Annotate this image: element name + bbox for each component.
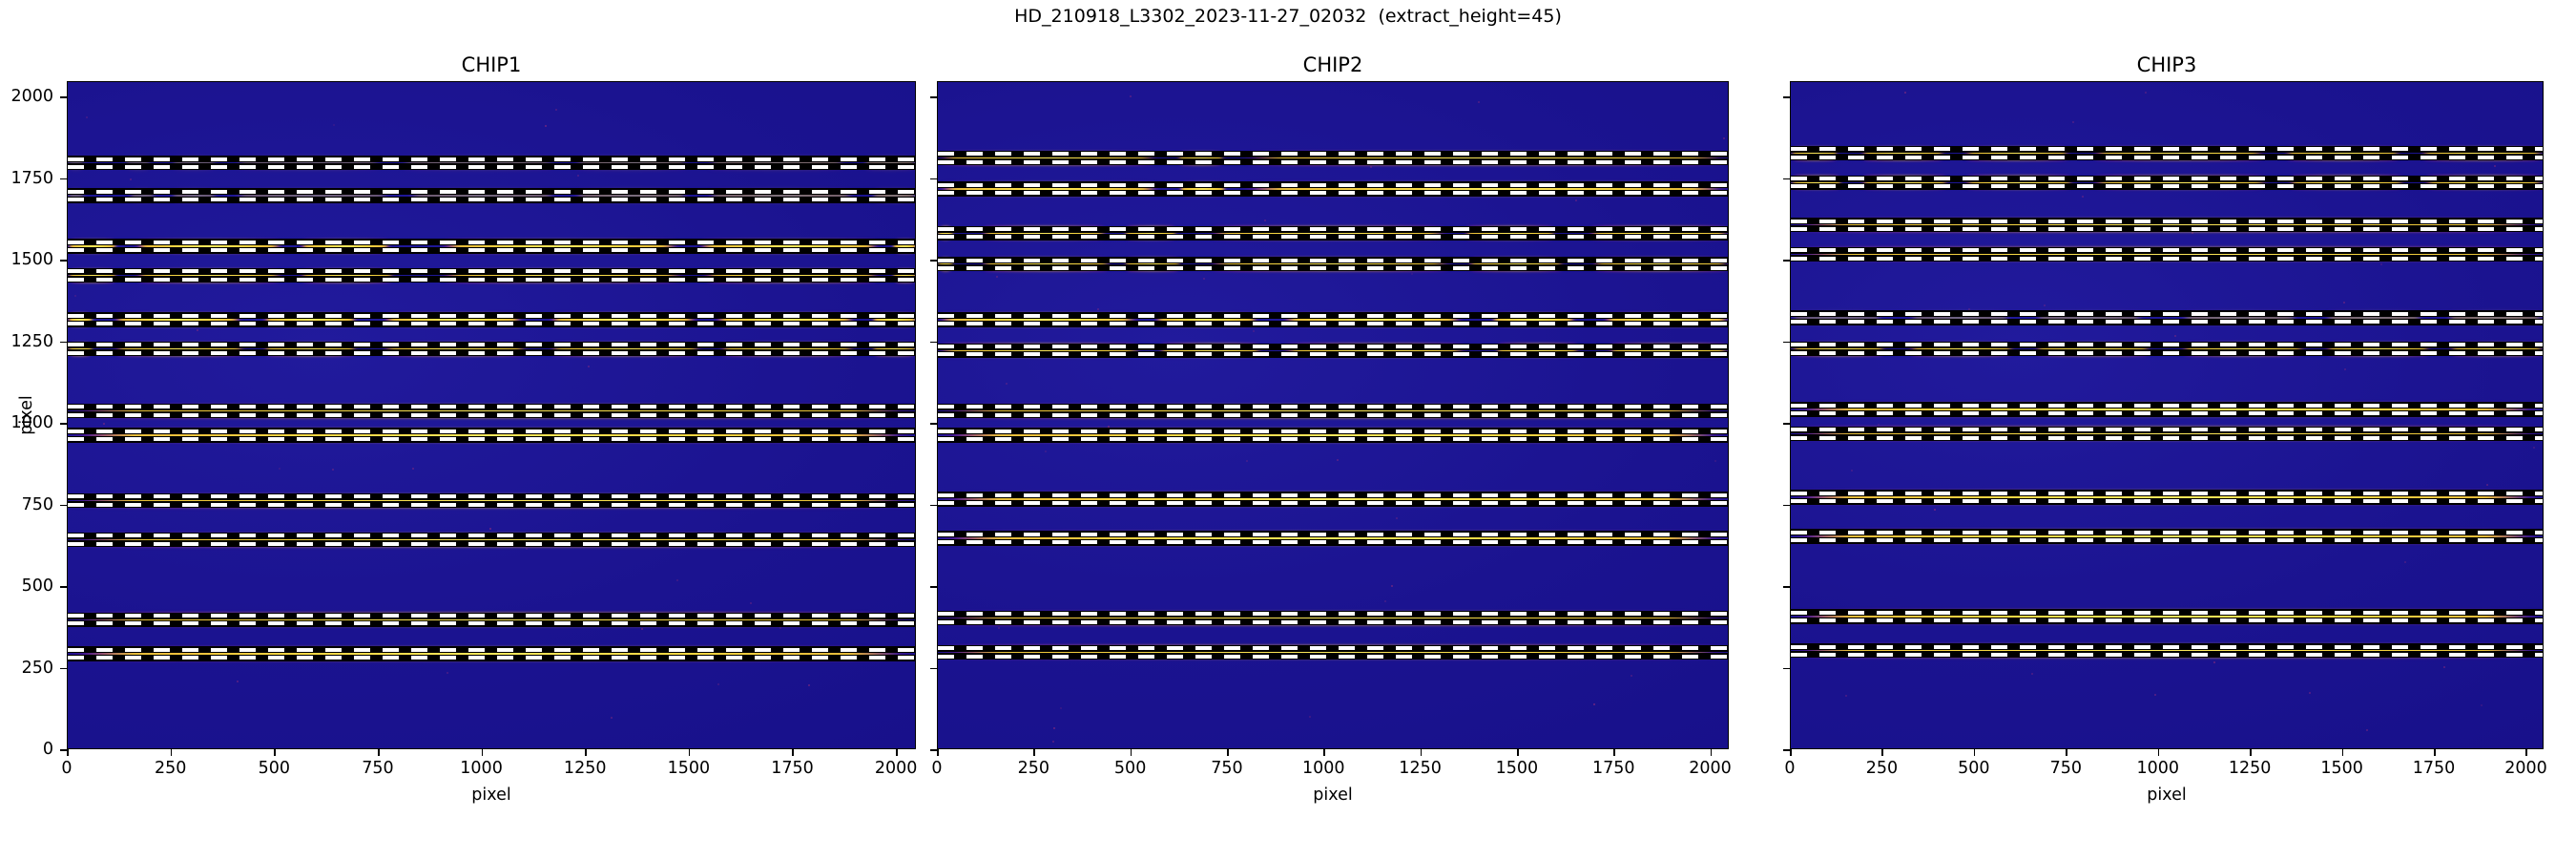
y-tick-mark: [930, 586, 937, 588]
y-tick-mark: [1783, 668, 1790, 670]
extraction-aperture-line-bottom: [1791, 349, 2543, 356]
extraction-aperture-line-bottom: [68, 501, 915, 508]
extraction-aperture-line-bottom: [1791, 183, 2543, 190]
extraction-aperture-line-bottom: [938, 500, 1728, 507]
hot-pixel: [2082, 196, 2084, 198]
extraction-aperture-line-bottom: [938, 264, 1728, 271]
x-tick-mark: [378, 749, 380, 756]
extraction-aperture-line-top: [68, 613, 915, 619]
spectral-order: [1791, 402, 2543, 416]
extraction-aperture-line-top: [1791, 218, 2543, 224]
extraction-aperture-line-top: [938, 611, 1728, 618]
y-tick-label: 0: [0, 740, 53, 759]
spectral-order: [68, 312, 915, 326]
extraction-aperture-line-top: [68, 312, 915, 319]
x-tick-mark: [1517, 749, 1519, 756]
hot-pixel: [717, 683, 719, 685]
hot-pixel: [2044, 304, 2046, 306]
extraction-aperture-line-bottom: [1791, 410, 2543, 417]
hot-pixel: [526, 548, 528, 550]
x-tick-mark: [2342, 749, 2344, 756]
spectral-order: [1791, 247, 2543, 262]
x-tick-label: 0: [1784, 759, 1795, 778]
extraction-aperture-line-top: [1791, 310, 2543, 317]
x-tick-label: 1500: [2320, 759, 2363, 778]
spectral-order: [1791, 218, 2543, 232]
extraction-aperture-line-bottom: [938, 653, 1728, 660]
x-tick-mark: [171, 749, 173, 756]
extraction-aperture-line-top: [938, 312, 1728, 319]
extraction-aperture-line-bottom: [68, 620, 915, 627]
hot-pixel: [577, 175, 579, 177]
y-tick-mark: [930, 178, 937, 180]
hot-pixel: [996, 276, 998, 278]
hot-pixel: [555, 109, 557, 111]
y-tick-mark: [60, 586, 67, 588]
extraction-aperture-line-top: [1791, 609, 2543, 616]
y-tick-mark: [60, 178, 67, 180]
hot-pixel: [1264, 220, 1266, 221]
x-tick-label: 1000: [460, 759, 503, 778]
hot-pixel: [2174, 335, 2176, 337]
extraction-aperture-line-bottom: [1791, 225, 2543, 232]
x-tick-label: 2000: [875, 759, 918, 778]
x-tick-mark: [2158, 749, 2160, 756]
extraction-aperture-line-bottom: [68, 411, 915, 418]
figure-canvas: HD_210918_L3302_2023-11-27_02032 (extrac…: [0, 0, 2576, 859]
x-axis-label: pixel: [471, 786, 510, 805]
spectral-order: [1791, 609, 2543, 623]
x-tick-label: 500: [1114, 759, 1146, 778]
extraction-aperture-line-top: [1791, 529, 2543, 535]
x-tick-label: 500: [259, 759, 290, 778]
hot-pixel: [2481, 704, 2483, 706]
hot-pixel: [2494, 165, 2496, 167]
y-tick-mark: [930, 505, 937, 507]
x-tick-mark: [1881, 749, 1883, 756]
hot-pixel: [676, 579, 678, 581]
panel-title-chip1: CHIP1: [67, 53, 916, 76]
spectral-order: [1791, 529, 2543, 543]
spectral-order: [938, 404, 1728, 418]
y-tick-mark: [930, 423, 937, 425]
spectral-order: [68, 493, 915, 508]
spectral-order: [68, 613, 915, 627]
extraction-aperture-line-bottom: [1791, 319, 2543, 325]
hot-pixel: [998, 627, 1000, 629]
x-tick-label: 250: [1018, 759, 1049, 778]
hot-pixel: [588, 366, 590, 367]
extraction-aperture-line-bottom: [1791, 537, 2543, 544]
hot-pixel: [1593, 703, 1595, 705]
extraction-aperture-line-bottom: [68, 321, 915, 327]
extraction-aperture-line-bottom: [938, 234, 1728, 241]
x-tick-label: 250: [155, 759, 186, 778]
hot-pixel: [1006, 383, 1008, 385]
x-tick-label: 250: [1866, 759, 1898, 778]
detector-image-chip3: [1790, 81, 2544, 749]
spectral-order: [68, 404, 915, 418]
spectral-order: [1791, 643, 2543, 658]
x-tick-mark: [1227, 749, 1229, 756]
hot-pixel: [1052, 741, 1054, 743]
x-tick-label: 0: [931, 759, 942, 778]
extraction-aperture-line-top: [938, 226, 1728, 233]
hot-pixel: [1396, 517, 1398, 519]
y-tick-mark: [930, 96, 937, 98]
y-tick-mark: [1783, 260, 1790, 262]
extraction-aperture-line-top: [1791, 402, 2543, 409]
extraction-aperture-line-top: [68, 342, 915, 348]
hot-pixel: [1723, 137, 1725, 139]
y-tick-mark: [60, 668, 67, 670]
x-tick-mark: [2525, 749, 2527, 756]
extraction-aperture-line-bottom: [1791, 154, 2543, 160]
x-tick-mark: [2066, 749, 2067, 756]
y-tick-label: 750: [0, 495, 53, 514]
hot-pixel: [333, 124, 335, 126]
extraction-aperture-line-top: [68, 239, 915, 245]
hot-pixel: [2154, 694, 2156, 696]
x-tick-mark: [1131, 749, 1132, 756]
hot-pixel: [197, 329, 198, 331]
x-tick-label: 2000: [2504, 759, 2547, 778]
y-tick-mark: [1783, 749, 1790, 751]
x-tick-mark: [274, 749, 276, 756]
y-tick-mark: [60, 423, 67, 425]
extraction-aperture-line-bottom: [1791, 498, 2543, 505]
extraction-aperture-line-bottom: [1791, 651, 2543, 658]
hot-pixel: [808, 684, 810, 686]
hot-pixel: [779, 627, 781, 629]
hot-pixel: [2344, 368, 2346, 370]
hot-pixel: [1337, 459, 1339, 461]
y-tick-mark: [60, 749, 67, 751]
extraction-aperture-line-top: [938, 404, 1728, 410]
hot-pixel: [447, 672, 448, 674]
spectral-order: [938, 531, 1728, 545]
extraction-aperture-line-top: [938, 151, 1728, 157]
x-tick-label: 1500: [668, 759, 711, 778]
spectral-order: [68, 188, 915, 202]
extraction-aperture-line-bottom: [938, 539, 1728, 546]
extraction-aperture-line-top: [68, 156, 915, 162]
extraction-aperture-line-bottom: [1791, 255, 2543, 262]
extraction-aperture-line-top: [938, 492, 1728, 498]
panel-chip2: CHIP2025050075010001250150017502000pixel: [937, 81, 1729, 749]
hot-pixel: [2486, 484, 2488, 486]
hot-pixel: [1053, 727, 1055, 729]
spectral-order: [1791, 427, 2543, 441]
hot-pixel: [611, 717, 613, 719]
spectral-order: [938, 181, 1728, 196]
x-tick-label: 1500: [1496, 759, 1539, 778]
extraction-aperture-line-bottom: [68, 247, 915, 254]
extraction-aperture-line-top: [938, 428, 1728, 434]
hot-pixel: [489, 528, 491, 530]
y-tick-mark: [60, 505, 67, 507]
x-tick-mark: [1790, 749, 1792, 756]
hot-pixel: [1309, 716, 1311, 718]
y-tick-label: 500: [0, 576, 53, 596]
y-tick-mark: [60, 260, 67, 262]
x-tick-mark: [689, 749, 691, 756]
x-tick-label: 1250: [1399, 759, 1442, 778]
extraction-aperture-line-top: [1791, 146, 2543, 153]
x-tick-label: 1000: [2136, 759, 2179, 778]
y-tick-label: 2000: [0, 87, 53, 106]
hot-pixel: [1253, 330, 1255, 332]
hot-pixel: [1478, 101, 1480, 103]
x-tick-mark: [792, 749, 794, 756]
y-tick-mark: [1783, 505, 1790, 507]
x-tick-label: 750: [2050, 759, 2082, 778]
spectral-order: [938, 645, 1728, 660]
y-tick-mark: [1783, 342, 1790, 344]
panel-chip1: CHIP1025050075010001250150017502000pixel…: [67, 81, 916, 749]
spectral-order: [938, 492, 1728, 506]
x-tick-label: 1250: [564, 759, 607, 778]
x-tick-mark: [2250, 749, 2252, 756]
extraction-aperture-line-bottom: [938, 158, 1728, 165]
extraction-aperture-line-top: [68, 533, 915, 539]
extraction-aperture-line-top: [1791, 176, 2543, 182]
extraction-aperture-line-top: [1791, 247, 2543, 254]
extraction-aperture-line-bottom: [938, 436, 1728, 443]
x-tick-label: 2000: [1689, 759, 1732, 778]
hot-pixel: [237, 681, 239, 682]
extraction-aperture-line-top: [1791, 342, 2543, 348]
hot-pixel: [1384, 600, 1386, 602]
extraction-aperture-line-top: [68, 428, 915, 434]
extraction-aperture-line-bottom: [68, 655, 915, 661]
hot-pixel: [1130, 95, 1132, 97]
detector-image-chip2: [937, 81, 1729, 749]
hot-pixel: [2404, 561, 2406, 563]
x-tick-label: 500: [1958, 759, 1989, 778]
x-tick-mark: [1974, 749, 1976, 756]
x-tick-mark: [585, 749, 587, 756]
x-tick-mark: [1323, 749, 1325, 756]
spectral-order: [1791, 490, 2543, 504]
hot-pixel: [1878, 424, 1880, 426]
spectral-order: [938, 312, 1728, 326]
x-tick-mark: [896, 749, 898, 756]
extraction-aperture-line-bottom: [938, 321, 1728, 327]
hot-pixel: [1246, 460, 1248, 462]
x-tick-mark: [1613, 749, 1615, 756]
hot-pixel: [2443, 666, 2445, 668]
hot-pixel: [2072, 121, 2074, 123]
extraction-aperture-line-bottom: [68, 163, 915, 170]
spectral-order: [68, 646, 915, 660]
hot-pixel: [1391, 585, 1393, 587]
extraction-aperture-line-top: [938, 181, 1728, 188]
hot-pixel: [1851, 470, 1853, 471]
hot-pixel: [1411, 273, 1413, 275]
hot-pixel: [1714, 460, 1716, 462]
extraction-aperture-line-top: [68, 646, 915, 653]
extraction-aperture-line-top: [1791, 427, 2543, 433]
hot-pixel: [2145, 92, 2147, 94]
hot-pixel: [1631, 675, 1632, 677]
hot-pixel: [2533, 447, 2535, 449]
x-tick-mark: [1711, 749, 1713, 756]
hot-pixel: [279, 468, 280, 470]
extraction-aperture-line-bottom: [68, 276, 915, 283]
x-tick-label: 0: [61, 759, 72, 778]
extraction-aperture-line-bottom: [1791, 434, 2543, 441]
hot-pixel: [1845, 695, 1847, 697]
extraction-aperture-line-top: [68, 493, 915, 500]
x-tick-mark: [2434, 749, 2436, 756]
y-tick-mark: [1783, 96, 1790, 98]
hot-pixel: [1575, 199, 1577, 201]
x-axis-label: pixel: [2147, 786, 2186, 805]
spectral-order: [938, 344, 1728, 358]
extraction-aperture-line-top: [938, 344, 1728, 350]
spectral-order: [68, 268, 915, 283]
spectral-order: [938, 428, 1728, 442]
y-tick-mark: [1783, 586, 1790, 588]
hot-pixel: [1097, 308, 1099, 310]
x-tick-label: 1750: [2413, 759, 2456, 778]
spectral-order: [1791, 310, 2543, 325]
y-tick-mark: [930, 749, 937, 751]
hot-pixel: [1370, 166, 1372, 168]
hot-pixel: [1904, 92, 1906, 94]
extraction-aperture-line-top: [68, 188, 915, 195]
spectral-order: [938, 226, 1728, 241]
panel-title-chip2: CHIP2: [937, 53, 1729, 76]
y-tick-label: 250: [0, 659, 53, 678]
hot-pixel: [2309, 692, 2311, 694]
hot-pixel: [86, 116, 88, 118]
figure-suptitle: HD_210918_L3302_2023-11-27_02032 (extrac…: [0, 6, 2576, 27]
extraction-aperture-line-top: [68, 268, 915, 275]
spectral-order: [1791, 176, 2543, 190]
hot-pixel: [2380, 263, 2382, 265]
extraction-aperture-line-bottom: [68, 197, 915, 203]
spectral-order: [938, 257, 1728, 271]
x-tick-label: 1250: [2229, 759, 2272, 778]
extraction-aperture-line-bottom: [1791, 618, 2543, 624]
spectral-order: [68, 533, 915, 547]
x-tick-label: 1000: [1302, 759, 1345, 778]
spectral-order: [938, 611, 1728, 625]
hot-pixel: [2366, 729, 2368, 731]
extraction-aperture-line-top: [1791, 490, 2543, 496]
hot-pixel: [332, 469, 334, 471]
hot-pixel: [1934, 509, 1936, 511]
x-tick-mark: [937, 749, 939, 756]
x-tick-mark: [67, 749, 69, 756]
y-tick-label: 1500: [0, 250, 53, 269]
hot-pixel: [641, 628, 643, 630]
panel-title-chip3: CHIP3: [1790, 53, 2544, 76]
hot-pixel: [74, 295, 76, 297]
y-tick-label: 1000: [0, 413, 53, 432]
hot-pixel: [1203, 278, 1205, 280]
x-tick-label: 750: [362, 759, 393, 778]
hot-pixel: [2213, 661, 2215, 663]
extraction-aperture-line-bottom: [938, 190, 1728, 197]
hot-pixel: [2343, 302, 2345, 304]
extraction-aperture-line-bottom: [938, 411, 1728, 418]
hot-pixel: [412, 468, 414, 470]
y-tick-mark: [930, 668, 937, 670]
extraction-aperture-line-bottom: [938, 351, 1728, 358]
hot-pixel: [103, 423, 105, 425]
x-tick-mark: [1033, 749, 1035, 756]
y-tick-mark: [930, 342, 937, 344]
extraction-aperture-line-bottom: [68, 540, 915, 547]
extraction-aperture-line-top: [938, 531, 1728, 537]
detector-image-chip1: [67, 81, 916, 749]
extraction-aperture-line-top: [68, 404, 915, 410]
extraction-aperture-line-top: [1791, 643, 2543, 650]
x-axis-label: pixel: [1313, 786, 1352, 805]
y-tick-mark: [930, 260, 937, 262]
hot-pixel: [1045, 450, 1047, 452]
hot-pixel: [750, 602, 752, 604]
extraction-aperture-line-bottom: [68, 349, 915, 356]
x-tick-mark: [482, 749, 484, 756]
spectral-order: [68, 342, 915, 356]
hot-pixel: [545, 125, 547, 127]
spectral-order: [938, 151, 1728, 165]
hot-pixel: [2031, 673, 2033, 675]
extraction-aperture-line-bottom: [68, 436, 915, 443]
spectral-order: [1791, 342, 2543, 356]
extraction-aperture-line-bottom: [938, 618, 1728, 625]
spectral-order: [68, 239, 915, 253]
x-tick-label: 1750: [1592, 759, 1635, 778]
hot-pixel: [1060, 707, 1062, 709]
y-tick-label: 1250: [0, 332, 53, 351]
y-tick-mark: [1783, 178, 1790, 180]
x-tick-mark: [1421, 749, 1423, 756]
x-tick-label: 750: [1211, 759, 1242, 778]
y-tick-mark: [60, 96, 67, 98]
y-tick-mark: [60, 342, 67, 344]
spectral-order: [68, 428, 915, 442]
spectral-order: [1791, 146, 2543, 160]
extraction-aperture-line-top: [938, 257, 1728, 263]
hot-pixel: [130, 178, 132, 180]
y-tick-mark: [1783, 423, 1790, 425]
x-tick-label: 1750: [771, 759, 814, 778]
extraction-aperture-line-top: [938, 645, 1728, 652]
y-tick-label: 1750: [0, 169, 53, 188]
panel-chip3: CHIP3025050075010001250150017502000pixel: [1790, 81, 2544, 749]
spectral-order: [68, 156, 915, 170]
